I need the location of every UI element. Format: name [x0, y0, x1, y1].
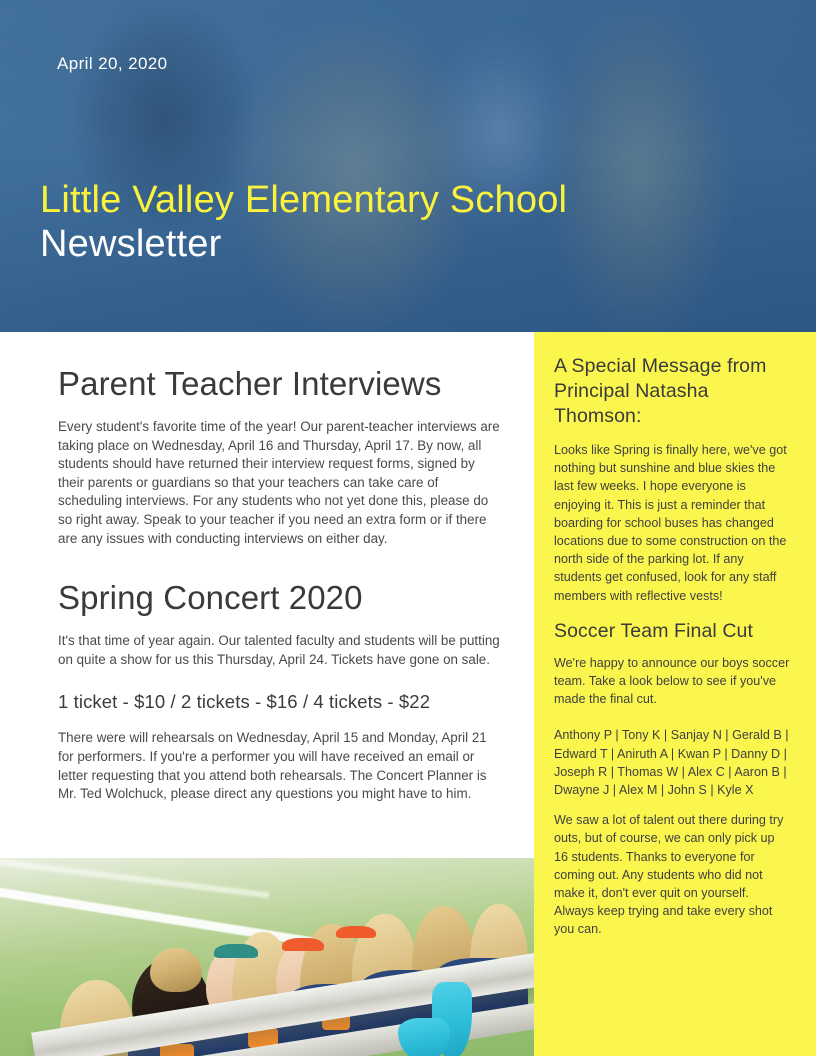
photo-headband: [214, 944, 258, 958]
page-title: Little Valley Elementary School Newslett…: [40, 178, 567, 266]
article-body: Every student's favorite time of the yea…: [58, 418, 500, 548]
sidebar-panel: A Special Message from Principal Natasha…: [534, 332, 816, 1056]
photo-player: [150, 948, 202, 992]
newsletter-date: April 20, 2020: [57, 54, 168, 74]
sidebar-principal-message-body: Looks like Spring is finally here, we've…: [554, 441, 790, 605]
article-body: It's that time of year again. Our talent…: [58, 632, 500, 669]
sidebar-soccer-roster: Anthony P | Tony K | Sanjay N | Gerald B…: [554, 726, 790, 799]
photo-headband: [282, 938, 324, 951]
photo-teal-towel: [398, 1018, 450, 1056]
header-banner: April 20, 2020 Little Valley Elementary …: [0, 0, 816, 332]
ticket-price-line: 1 ticket - $10 / 2 tickets - $16 / 4 tic…: [58, 689, 500, 715]
article-heading: Parent Teacher Interviews: [58, 332, 500, 404]
header-photo-tint-overlay: [0, 0, 816, 332]
article-spring-concert: Spring Concert 2020 It's that time of ye…: [0, 548, 536, 804]
article-parent-teacher-interviews: Parent Teacher Interviews Every student'…: [0, 332, 536, 548]
page-title-school: Little Valley Elementary School: [40, 178, 567, 222]
photo-headband: [336, 926, 376, 938]
sidebar-heading-soccer-team: Soccer Team Final Cut: [554, 619, 790, 644]
sidebar-soccer-outro: We saw a lot of talent out there during …: [554, 811, 790, 938]
sidebar-heading-principal-message: A Special Message from Principal Natasha…: [554, 354, 790, 429]
article-body-rehearsals: There were will rehearsals on Wednesday,…: [58, 729, 500, 803]
sidebar-soccer-intro: We're happy to announce our boys soccer …: [554, 654, 790, 709]
soccer-team-photo: [0, 858, 536, 1056]
article-heading: Spring Concert 2020: [58, 548, 500, 618]
page-title-newsletter: Newsletter: [40, 222, 567, 266]
